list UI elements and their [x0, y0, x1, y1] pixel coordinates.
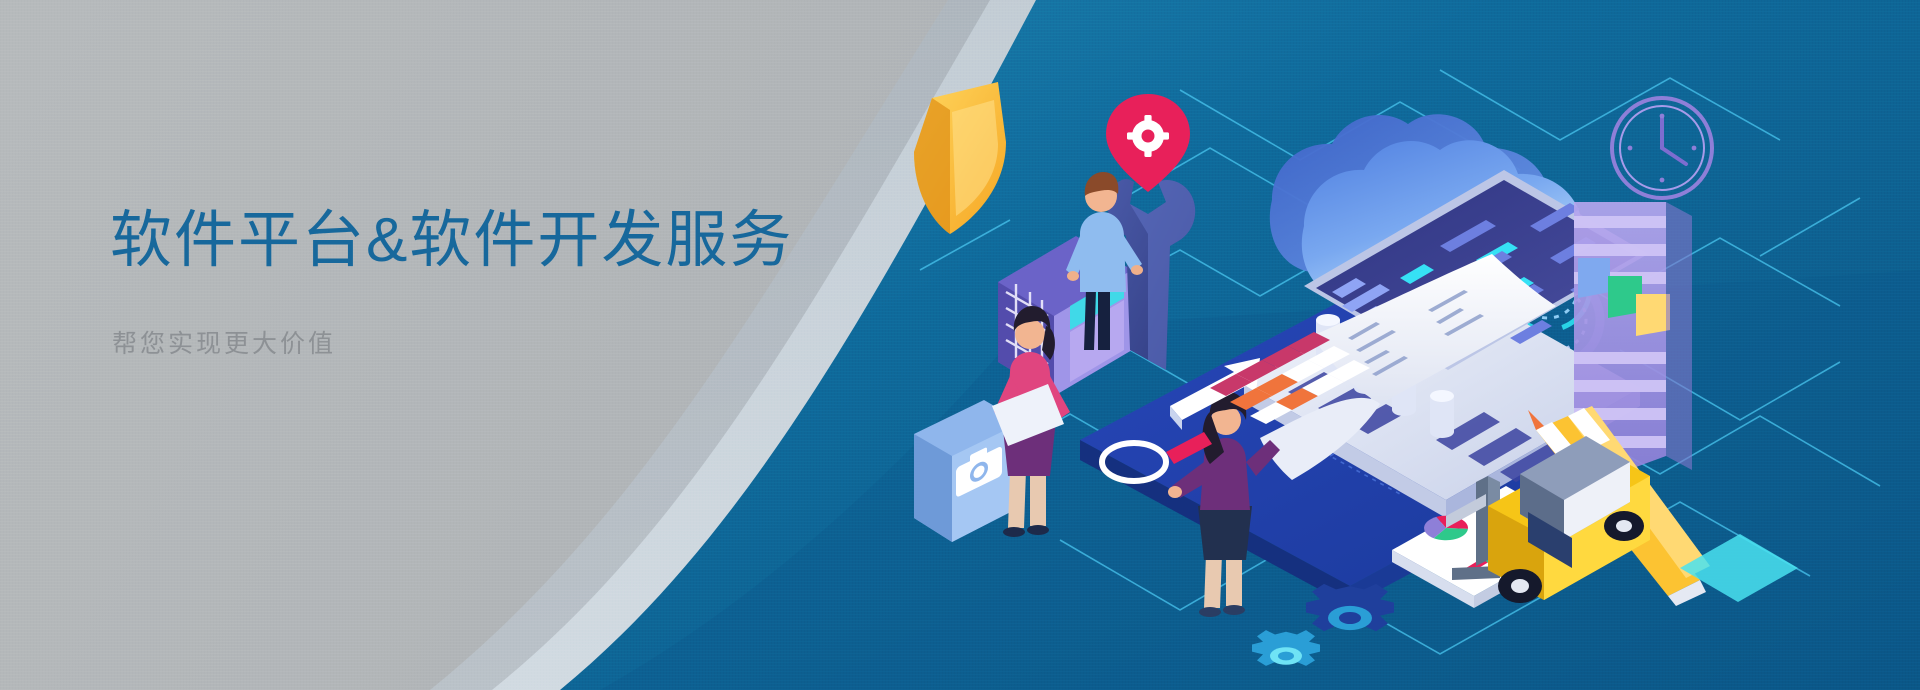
- gear-badge-icon: [1106, 94, 1190, 192]
- sticky-note-yellow: [1636, 294, 1670, 336]
- sticky-note-blue: [1578, 258, 1610, 298]
- hero-banner: 软件平台&软件开发服务 帮您实现更大价值: [0, 0, 1920, 690]
- clock-icon: [1612, 98, 1712, 198]
- hero-text-block: 软件平台&软件开发服务 帮您实现更大价值: [110, 205, 930, 360]
- hero-illustration: [880, 20, 1920, 680]
- shield-icon: [914, 82, 1006, 234]
- page-title: 软件平台&软件开发服务: [110, 205, 930, 276]
- gears-icon: [1252, 584, 1394, 666]
- page-subtitle: 帮您实现更大价值: [112, 324, 930, 360]
